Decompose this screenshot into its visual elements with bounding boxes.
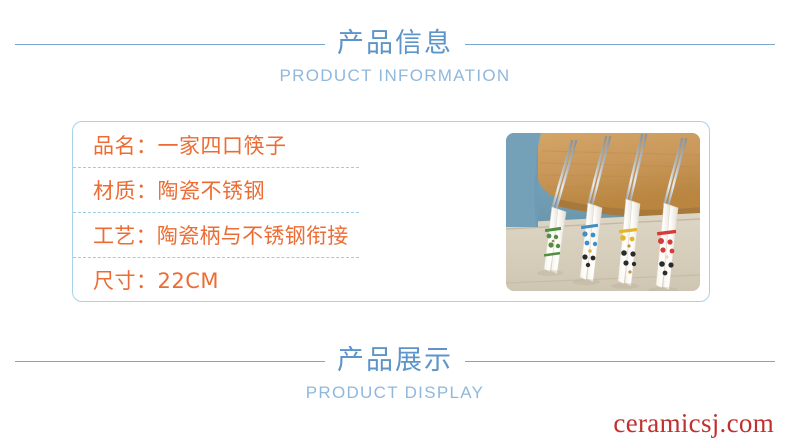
- heading-rule-row: 产品展示: [0, 344, 790, 378]
- site-watermark: ceramicsj.com: [613, 408, 774, 438]
- heading-rule-row: 产品信息: [0, 27, 790, 61]
- product-spec-list: 品名：一家四口筷子 材质：陶瓷不锈钢 工艺：陶瓷柄与不锈钢衔接 尺寸：22CM: [73, 122, 359, 302]
- spec-row-text: 尺寸：22CM: [93, 265, 219, 295]
- section-title-cn: 产品展示: [325, 344, 465, 378]
- spec-row-size: 尺寸：22CM: [73, 257, 359, 302]
- heading-rule-left: [15, 361, 333, 362]
- section-title-en: PRODUCT DISPLAY: [0, 383, 790, 403]
- spec-row-text: 品名：一家四口筷子: [93, 130, 287, 160]
- heading-rule-left: [15, 44, 333, 45]
- section-heading-product-information: 产品信息 PRODUCT INFORMATION: [0, 27, 790, 86]
- product-info-card: 品名：一家四口筷子 材质：陶瓷不锈钢 工艺：陶瓷柄与不锈钢衔接 尺寸：22CM: [72, 121, 710, 302]
- spec-row-text: 材质：陶瓷不锈钢: [93, 175, 265, 205]
- section-title-en: PRODUCT INFORMATION: [0, 66, 790, 86]
- section-heading-product-display: 产品展示 PRODUCT DISPLAY: [0, 344, 790, 403]
- spec-row-product-name: 品名：一家四口筷子: [73, 122, 359, 167]
- spec-row-text: 工艺：陶瓷柄与不锈钢衔接: [93, 220, 349, 250]
- product-photo-illustration: [506, 133, 700, 291]
- heading-rule-right: [457, 361, 775, 362]
- heading-rule-right: [457, 44, 775, 45]
- section-title-cn: 产品信息: [325, 27, 465, 61]
- spec-row-material: 材质：陶瓷不锈钢: [73, 167, 359, 212]
- product-photo: [506, 133, 700, 291]
- spec-row-craft: 工艺：陶瓷柄与不锈钢衔接: [73, 212, 359, 257]
